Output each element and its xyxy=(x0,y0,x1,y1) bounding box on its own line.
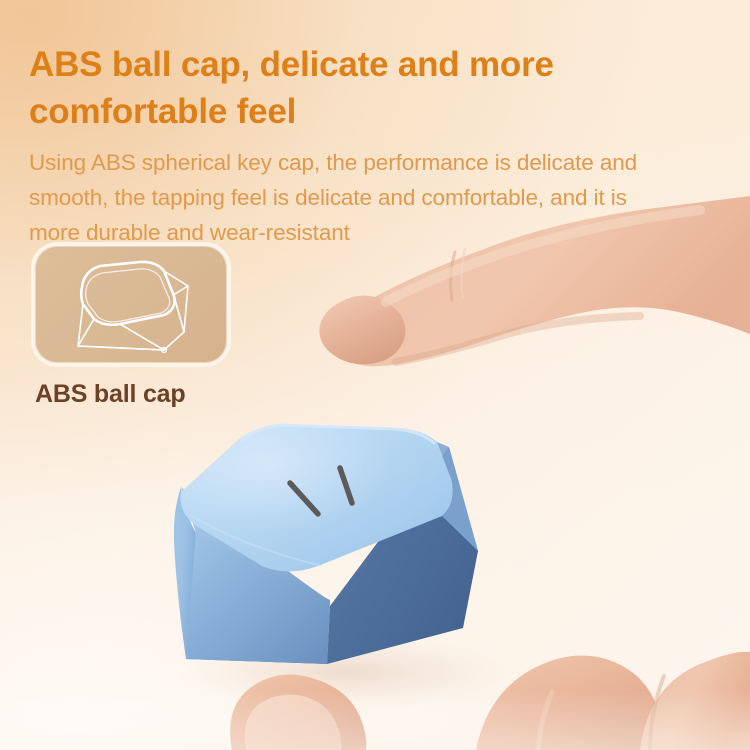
product-feature-card: ABS ball cap, delicate and more comforta… xyxy=(0,0,750,750)
lower-fingers xyxy=(476,652,750,750)
thumb-bottom-left xyxy=(230,675,366,750)
badge-tile xyxy=(35,246,227,363)
keycap-wireframe-icon xyxy=(36,247,226,362)
feature-description: Using ABS spherical key cap, the perform… xyxy=(29,145,719,250)
keycap-shadow xyxy=(177,634,513,710)
blue-keycap xyxy=(174,424,478,664)
badge-label: ABS ball cap xyxy=(35,380,235,409)
keycap-legend xyxy=(290,468,352,514)
page-title: ABS ball cap, delicate and more comforta… xyxy=(29,41,709,135)
abs-ball-cap-badge: ABS ball cap xyxy=(35,246,235,409)
